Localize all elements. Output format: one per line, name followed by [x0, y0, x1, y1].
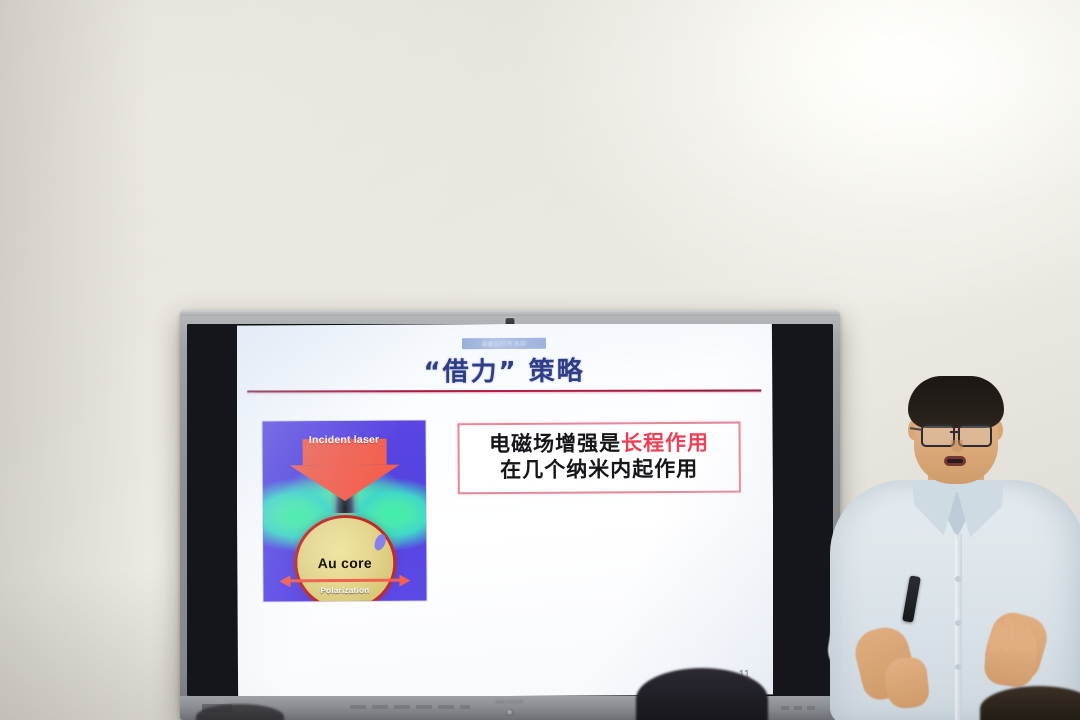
arrow-head-down-icon [289, 465, 399, 502]
panel-screen[interactable]: 讲座幻灯片水印 “借力” 策略 Incident laser Au core [187, 324, 833, 696]
presenter-eyebrow-right [960, 418, 986, 421]
presenter-shirt-button [955, 664, 961, 670]
panel-ports-center [350, 705, 470, 709]
presenter-shirt-button [955, 576, 961, 582]
presenter-shirt-button [955, 620, 961, 626]
au-core-label: Au core [297, 555, 393, 572]
slide-title: “借力” 策略 [236, 349, 772, 389]
incident-laser-label: Incident laser [309, 434, 380, 446]
lecture-scene: 讲座幻灯片水印 “借力” 策略 Incident laser Au core [0, 0, 1080, 720]
ceiling-light-glow [700, 0, 1080, 220]
presenter-nose [951, 440, 963, 452]
slide-watermark-text: 讲座幻灯片水印 [481, 339, 527, 348]
panel-top-edge [180, 310, 840, 316]
eyeglasses-icon [921, 424, 955, 447]
title-divider-rule [247, 390, 761, 393]
presenter-mouth-inner [947, 459, 963, 463]
eyeglasses-bridge [950, 431, 959, 433]
polarization-label: Polarization [263, 585, 426, 595]
presenter-finger [1013, 619, 1023, 651]
slide-callout-box: 电磁场增强是长程作用 在几个纳米内起作用 [457, 422, 740, 495]
callout-line-2: 在几个纳米内起作用 [470, 456, 729, 483]
power-indicator-icon[interactable] [507, 709, 514, 716]
presenter-left-hand [884, 656, 931, 710]
presenter-shirt-placket [955, 534, 962, 720]
eyeglasses-icon [958, 424, 992, 447]
letterbox-right [773, 324, 833, 696]
letterbox-left [187, 324, 237, 696]
panel-brand-label: MAXHUB [496, 700, 525, 706]
interactive-flat-panel[interactable]: 讲座幻灯片水印 “借力” 策略 Incident laser Au core [180, 310, 840, 720]
panel-ports-right [781, 706, 815, 710]
callout-text-black: 电磁场增强是 [489, 431, 621, 456]
presenter-eyebrow-left [922, 418, 948, 421]
callout-line-1: 电磁场增强是长程作用 [470, 431, 729, 458]
presentation-slide[interactable]: 讲座幻灯片水印 “借力” 策略 Incident laser Au core [236, 324, 774, 696]
callout-text-red: 长程作用 [621, 431, 709, 456]
near-field-figure: Incident laser Au core Polarization [262, 420, 426, 601]
slide-watermark-bar: 讲座幻灯片水印 [462, 338, 546, 350]
presenter-person [836, 376, 1080, 720]
